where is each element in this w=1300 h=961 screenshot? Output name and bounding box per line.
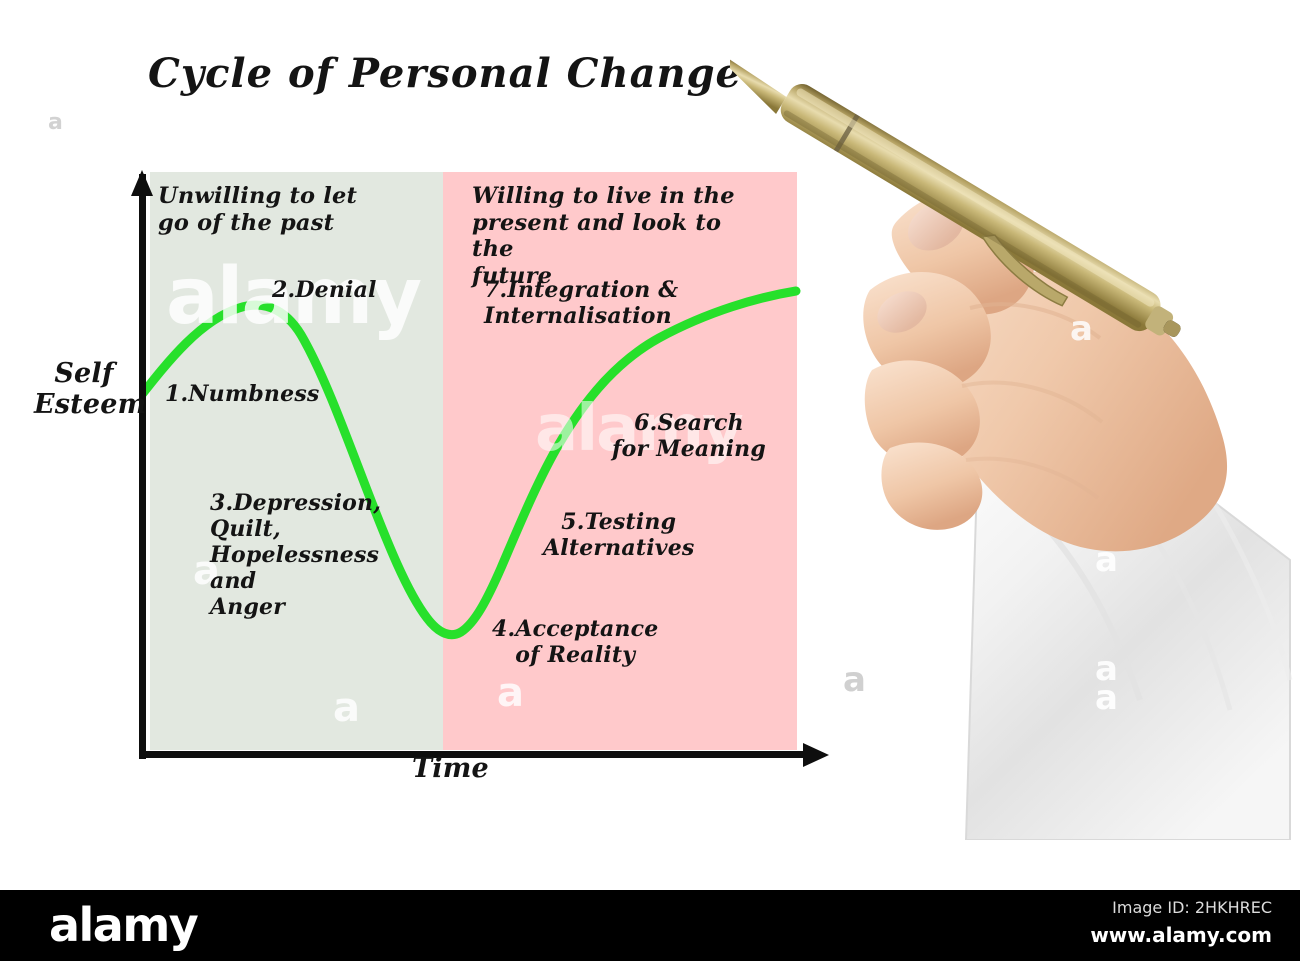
stage-label-3-depression: 3.Depression, Quilt, Hopelessness and An… bbox=[210, 491, 425, 621]
page-title: Cycle of Personal Change bbox=[148, 53, 742, 95]
stage-label-4-acceptance: 4.Acceptance of Reality bbox=[492, 617, 658, 669]
stage-label-2-denial: 2.Denial bbox=[272, 278, 377, 304]
watermark-letter-a: a bbox=[1095, 649, 1118, 689]
region-label-willing: Willing to live in the present and look … bbox=[472, 183, 762, 289]
region-unwilling bbox=[150, 172, 443, 750]
alamy-logo: alamy bbox=[49, 898, 197, 952]
x-axis-title: Time bbox=[412, 753, 489, 784]
y-axis bbox=[139, 174, 146, 759]
watermark-letter-a: a bbox=[48, 110, 63, 135]
stage-label-7-integration: 7.Integration & Internalisation bbox=[484, 278, 724, 330]
watermark-letter-a: a bbox=[1070, 309, 1093, 349]
region-label-unwilling: Unwilling to let go of the past bbox=[158, 183, 418, 236]
alamy-url[interactable]: www.alamy.com bbox=[1090, 923, 1272, 947]
stage-label-1-numbness: 1.Numbness bbox=[165, 382, 320, 408]
screenshot-root: Cycle of Personal Change a alamy alamy a… bbox=[0, 0, 1300, 961]
image-id-text: Image ID: 2HKHREC bbox=[1112, 898, 1272, 917]
y-axis-title: Self Esteem bbox=[34, 358, 134, 420]
stage-label-5-testing: 5.Testing Alternatives bbox=[543, 510, 695, 562]
hand-holding-pen-illustration: a a bbox=[730, 40, 1300, 840]
y-axis-arrow-icon bbox=[131, 170, 153, 196]
